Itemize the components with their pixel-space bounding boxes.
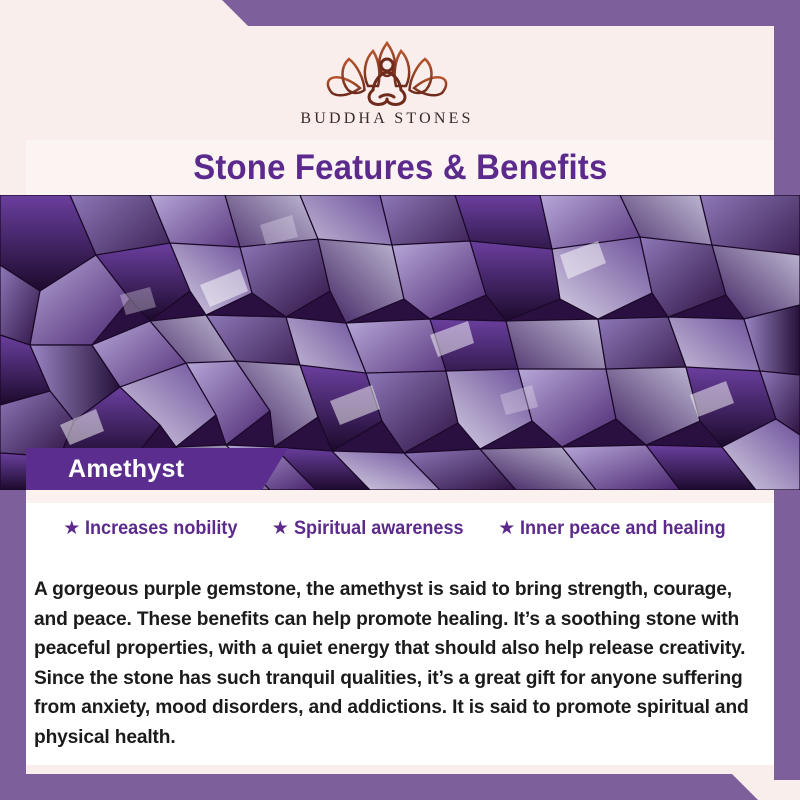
star-icon: ★	[498, 519, 515, 538]
star-icon: ★	[272, 519, 289, 538]
frame-bottom-band	[0, 774, 800, 800]
benefit-item: ★ Increases nobility	[63, 518, 246, 540]
stone-name-label: Amethyst	[68, 455, 184, 484]
frame-top-band	[0, 0, 800, 26]
benefit-label: Increases nobility	[85, 518, 237, 540]
benefit-label: Inner peace and healing	[520, 518, 726, 540]
page-title-band: Stone Features & Benefits	[26, 140, 774, 195]
page-title: Stone Features & Benefits	[193, 148, 607, 188]
brand-wordmark: BUDDHA STONES	[300, 110, 473, 128]
brand-logo-block: BUDDHA STONES	[0, 26, 774, 140]
lotus-meditation-figure-icon	[312, 34, 462, 108]
product-info-card: BUDDHA STONES Stone Features & Benefits	[0, 0, 800, 800]
benefits-row: ★ Increases nobility ★ Spiritual awarene…	[26, 512, 774, 546]
frame-left-band	[0, 488, 26, 800]
benefit-item: ★ Inner peace and healing	[498, 518, 737, 540]
stone-name-badge: Amethyst	[26, 448, 288, 490]
star-icon: ★	[63, 519, 80, 538]
benefit-label: Spiritual awareness	[294, 518, 464, 540]
stone-description: A gorgeous purple gemstone, the amethyst…	[34, 575, 770, 752]
benefit-item: ★ Spiritual awareness	[272, 518, 473, 540]
amethyst-crystal-image	[0, 195, 800, 490]
benefits-strip-background	[26, 490, 774, 503]
